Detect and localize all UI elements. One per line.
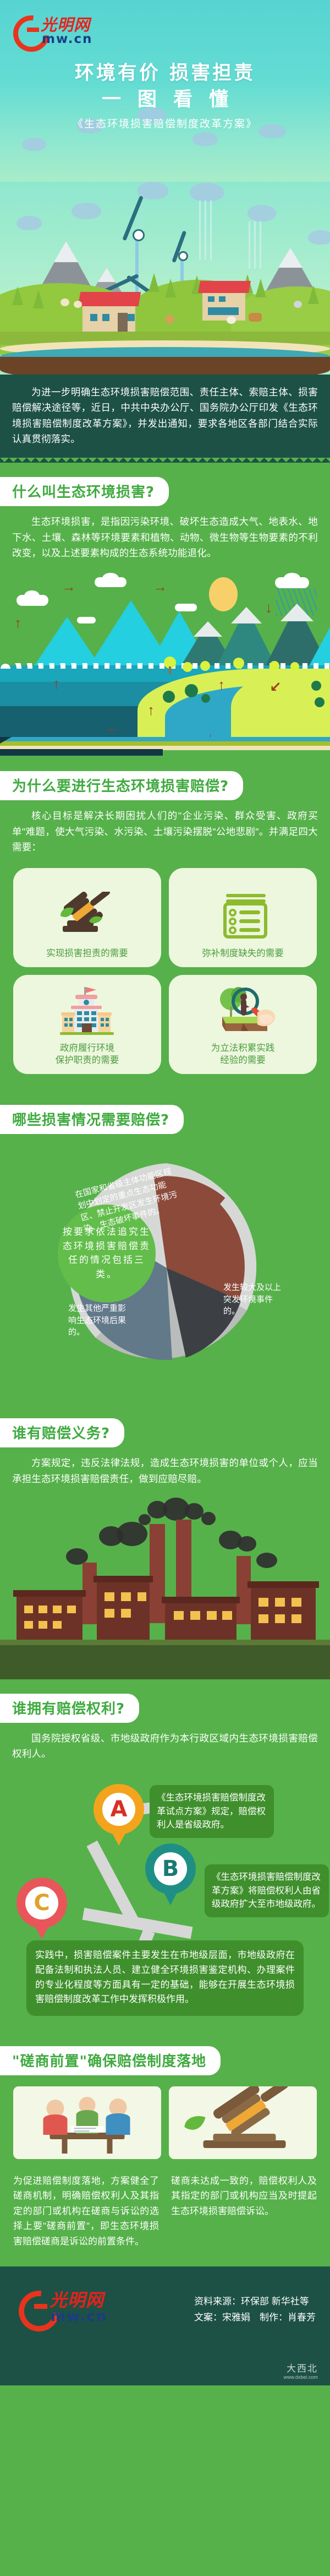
sun-icon	[209, 577, 238, 611]
strata-divider	[0, 737, 330, 757]
hero-banner: 光明网 mw.cn 环境有价 损害担责 一图看懂 《生态环境损害赔偿制度改革方案…	[0, 0, 330, 182]
sheep-icon	[61, 299, 69, 306]
zigzag-divider	[0, 458, 330, 463]
watermark-url: www.dxbei.com	[283, 2374, 318, 2380]
section-why: 为什么要进行生态环境损害赔偿? 核心目标是解决长期困扰人们的"企业污染、群众受害…	[0, 757, 330, 1091]
section-obligation: 谁有赔偿义务? 方案规定，违反法律法规，造成生态环境损害的单位或个人，应当承担生…	[0, 1404, 330, 1498]
watermark-name: 大西北	[287, 2363, 318, 2374]
need-card[interactable]: 为立法积累实践 经验的需要	[169, 975, 317, 1074]
pin-letter-c: C	[25, 1886, 58, 1919]
section-consult: "磋商前置"确保赔偿制度落地	[0, 2032, 330, 2267]
arrow-up-icon: ↑	[147, 703, 155, 717]
rain-cloud-icon	[190, 183, 224, 202]
arrow-down-left-icon: ↙	[269, 680, 282, 694]
factory-building	[16, 1595, 82, 1642]
section-heading-obligation: 谁有赔偿义务?	[0, 1418, 124, 1447]
tree-icon	[308, 285, 319, 304]
cow-icon	[249, 313, 262, 322]
litigation-gavel-illustration	[169, 2086, 317, 2159]
need-card-grid: 实现损害担责的需要 弥补制度缺失的需要	[0, 863, 330, 1087]
magnifier-soil-icon	[210, 985, 276, 1035]
footer-source: 资料来源：环保部 新华社等	[194, 2294, 316, 2310]
cloud-icon	[248, 205, 276, 221]
section-rights: 谁拥有赔偿权利? 国务院授权省级、市地级政府作为本行政区域内生态环境损害赔偿权利…	[0, 1679, 330, 1773]
arrow-up-icon: ↑	[14, 616, 21, 630]
rights-note-callout: 实践中，损害赔偿案件主要发生在市地级层面，市地级政府在配备法制和执法人员、建立健…	[26, 1940, 304, 2016]
section-body-rights: 国务院授权省级、市地级政府作为本行政区域内生态环境损害赔偿权利人。	[0, 1731, 330, 1770]
smoke-icon	[117, 1522, 147, 1546]
arrow-up-icon: ↑	[53, 676, 60, 691]
hero-title-line1: 环境有价 损害担责	[0, 57, 330, 85]
pin-marker-a[interactable]: A	[94, 1784, 144, 1848]
cloud-icon	[175, 604, 197, 611]
consult-text-columns: 为促进赔偿制度落地，方案健全了磋商机制，明确赔偿权利人及其指定的部门或机构在磋商…	[0, 2165, 330, 2264]
logo-domain: mw.cn	[51, 2308, 107, 2325]
intro-text: 为进一步明确生态环境损害赔偿范围、责任主体、索赔主体、损害赔偿解决途径等，近日，…	[12, 384, 318, 447]
pin-callout-a: 《生态环境损害赔偿制度改革试点方案》规定，赔偿权利人是省级政府。	[150, 1785, 274, 1838]
section-heading-consult: "磋商前置"确保赔偿制度落地	[0, 2046, 221, 2075]
road-path	[82, 1908, 193, 1939]
pin-marker-c[interactable]: C	[16, 1878, 67, 1942]
factory-building	[251, 1586, 316, 1642]
government-building-icon	[54, 985, 120, 1035]
guangming-logo-footer[interactable]: 光明网 mw.cn	[19, 2286, 129, 2330]
hero-subtitle: 《生态环境损害赔偿制度改革方案》	[0, 116, 330, 131]
dog-icon	[165, 315, 174, 323]
logo-g-bar	[27, 28, 39, 32]
ecosystem-cycle-illustration: → → ↑ ↓ ↑ ↑ ↑ ↙ ← ↓	[0, 572, 330, 737]
intro-paragraph: 为进一步明确生态环境损害赔偿范围、责任主体、索赔主体、损害赔偿解决途径等，近日，…	[0, 375, 330, 458]
tree-icon	[12, 286, 23, 305]
tree-icon	[255, 279, 266, 297]
consult-column-right: 磋商未达成一致的，赔偿权利人及其指定的部门或机构应当及时提起生态环境损害赔偿诉讼…	[171, 2173, 317, 2249]
pin-letter-b: B	[154, 1852, 187, 1885]
section-heading-definition: 什么叫生态环境损害?	[0, 477, 169, 506]
need-card[interactable]: 弥补制度缺失的需要	[169, 868, 317, 967]
sheep-icon	[227, 316, 236, 324]
section-heading-rights: 谁拥有赔偿权利?	[0, 1694, 139, 1723]
tree-icon	[33, 290, 44, 308]
need-card[interactable]: 实现损害担责的需要	[13, 868, 161, 967]
tree-icon	[148, 273, 159, 292]
page-footer: 光明网 mw.cn 资料来源：环保部 新华社等 文案：宋雅娟 制作：肖春芳 大西…	[0, 2266, 330, 2385]
pin-letter-a: A	[102, 1793, 135, 1826]
donut-center-text: 按要求依法追究生态环境损害赔偿责任的情况包括三类。	[58, 1225, 156, 1282]
footer-credits: 资料来源：环保部 新华社等 文案：宋雅娟 制作：肖春芳	[194, 2294, 316, 2326]
gavel-leaf-icon	[57, 890, 118, 941]
smoke-icon	[201, 1512, 216, 1525]
negotiation-illustration	[13, 2086, 161, 2159]
need-card-label: 为立法积累实践 经验的需要	[211, 1042, 275, 1067]
pin-callout-b: 《生态环境损害赔偿制度改革方案》将赔偿权利人由省级政府扩大至市地级政府。	[205, 1864, 329, 1917]
sheep-icon	[294, 301, 302, 308]
checklist-document-icon	[213, 890, 273, 941]
smokestack-icon	[237, 1556, 251, 1624]
section-heading-why: 为什么要进行生态环境损害赔偿?	[0, 771, 243, 800]
logo-g-bar	[34, 2304, 47, 2309]
smokestack-icon	[150, 1524, 165, 1623]
logo-domain: mw.cn	[42, 32, 93, 46]
section-body-why: 核心目标是解决长期困扰人们的"企业污染、群众受害、政府买单"难题，使大气污染、水…	[0, 808, 330, 863]
rights-pins-map: A 《生态环境损害赔偿制度改革试点方案》规定，赔偿权利人是省级政府。 B 《生态…	[0, 1773, 330, 2032]
need-card-label: 政府履行环境 保护职责的需要	[56, 1042, 119, 1067]
arrow-right-icon: →	[153, 579, 167, 594]
pin-marker-b[interactable]: B	[145, 1843, 196, 1907]
smoke-icon	[256, 1553, 277, 1568]
consult-illustrations	[0, 2083, 330, 2165]
section-body-definition: 生态环境损害，是指因污染环境、破坏生态造成大气、地表水、地下水、土壤、森林等环境…	[0, 514, 330, 568]
footer-authors: 文案：宋雅娟 制作：肖春芳	[194, 2310, 316, 2326]
section-definition: 什么叫生态环境损害? 生态环境损害，是指因污染环境、破坏生态造成大气、地表水、地…	[0, 463, 330, 572]
clean-landscape-illustration	[0, 182, 330, 375]
cloud-icon	[308, 230, 330, 245]
consult-column-left: 为促进赔偿制度落地，方案健全了磋商机制，明确赔偿权利人及其指定的部门或机构在磋商…	[13, 2173, 159, 2249]
donut-segment-label-2: 发生较大及以上突发环境事件的。	[223, 1282, 284, 1317]
need-card[interactable]: 政府履行环境 保护职责的需要	[13, 975, 161, 1074]
cloud-icon	[71, 203, 101, 219]
damage-cases-donut: 按要求依法追究生态环境损害赔偿责任的情况包括三类。 在国家和省级主体功能区规划中…	[0, 1145, 330, 1404]
infographic-page: 光明网 mw.cn 环境有价 损害担责 一图看懂 《生态环境损害赔偿制度改革方案…	[0, 0, 330, 2385]
watermark: 大西北 www.dxbei.com	[283, 2361, 318, 2380]
donut-segment-label-3: 发生其他严重影响生态环境后果的。	[68, 1303, 129, 1338]
hero-title-line2: 一图看懂	[0, 84, 330, 112]
arrow-right-icon: →	[62, 579, 76, 594]
smoke-icon	[238, 1536, 256, 1552]
factory-building	[165, 1601, 237, 1642]
need-card-label: 弥补制度缺失的需要	[202, 947, 284, 959]
need-card-label: 实现损害担责的需要	[46, 947, 128, 959]
section-heading-which: 哪些损害情况需要赔偿?	[0, 1105, 184, 1134]
tree-icon	[165, 279, 176, 297]
sheep-icon	[74, 301, 82, 308]
arrow-left-icon: ←	[106, 720, 120, 735]
house-icon	[202, 291, 245, 321]
section-which: 哪些损害情况需要赔偿?	[0, 1091, 330, 1145]
arrow-down-icon: ↓	[207, 730, 214, 737]
section-body-obligation: 方案规定，违反法律法规，造成生态环境损害的单位或个人，应当承担生态环境损害赔偿责…	[0, 1455, 330, 1494]
arrow-down-icon: ↓	[265, 600, 272, 615]
arrow-up-icon: ↑	[218, 677, 225, 692]
guangming-logo[interactable]: 光明网 mw.cn	[13, 12, 109, 46]
smoke-icon	[185, 1503, 204, 1520]
cloud-icon	[16, 216, 42, 230]
factory-pollution-illustration	[0, 1498, 330, 1679]
